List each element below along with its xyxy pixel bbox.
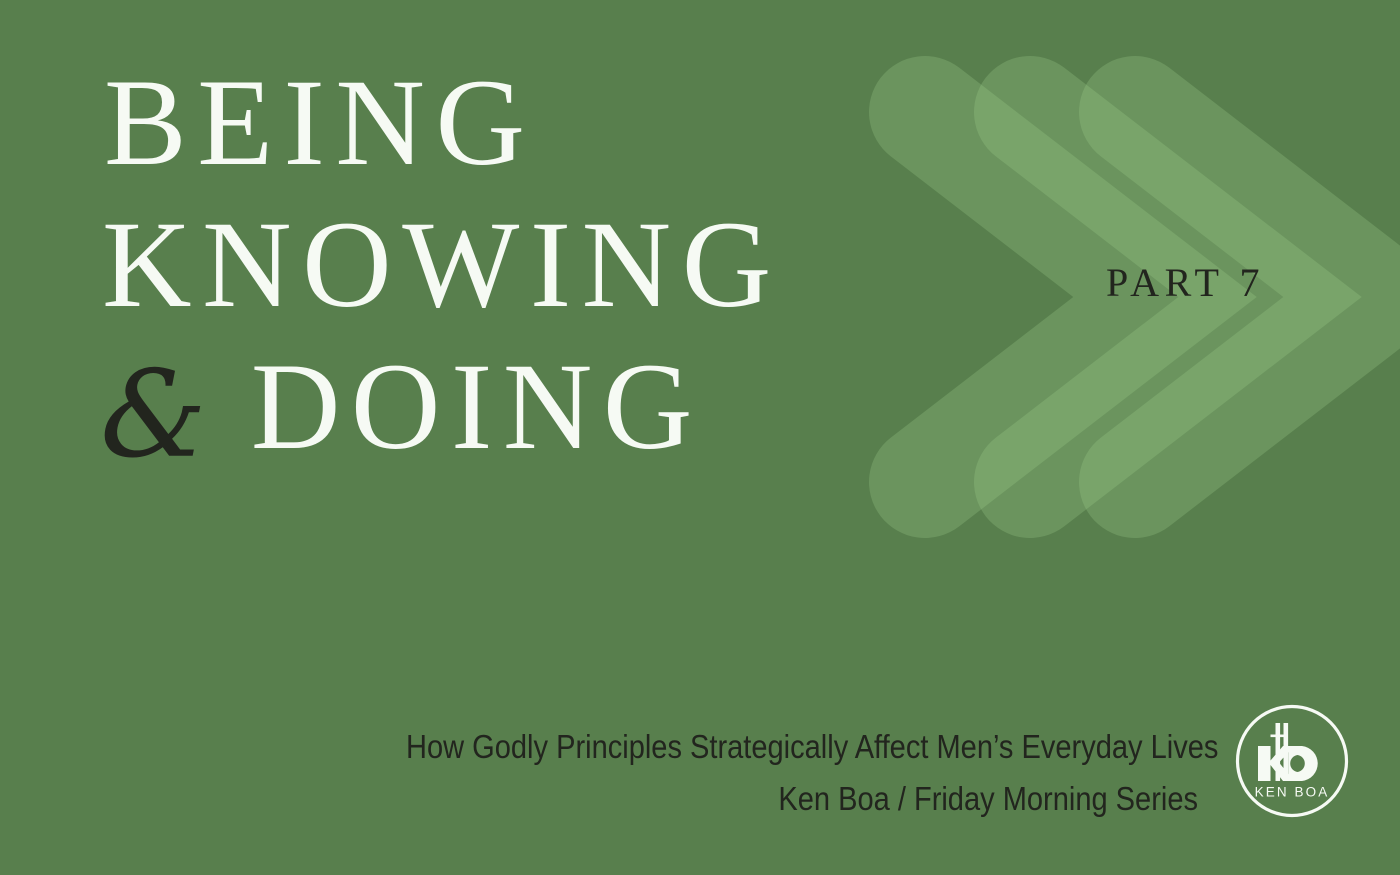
logo-stem-left	[1276, 723, 1281, 781]
part-number-label: PART 7	[1106, 263, 1265, 303]
footer-text-block: How Godly Principles Strategically Affec…	[298, 721, 1198, 825]
presentation-slide: BEING KNOWING &DOING PART 7 How Godly Pr…	[0, 0, 1400, 875]
footer-tagline: How Godly Principles Strategically Affec…	[406, 721, 1198, 773]
title-line-knowing: KNOWING	[102, 194, 960, 336]
ken-boa-logo: KEN BOA	[1234, 703, 1350, 819]
title-line-doing-text: DOING	[251, 338, 703, 475]
title-line-doing: &DOING	[100, 336, 960, 479]
footer-attribution: Ken Boa / Friday Morning Series	[406, 773, 1198, 825]
title-block: BEING KNOWING &DOING	[100, 52, 960, 479]
logo-wordmark: KEN BOA	[1255, 785, 1330, 800]
logo-b-glyph	[1288, 746, 1318, 781]
title-line-being: BEING	[104, 52, 960, 194]
logo-stem-right	[1284, 723, 1289, 781]
logo-cross-icon	[1271, 735, 1285, 738]
ampersand-glyph: &	[100, 345, 207, 487]
